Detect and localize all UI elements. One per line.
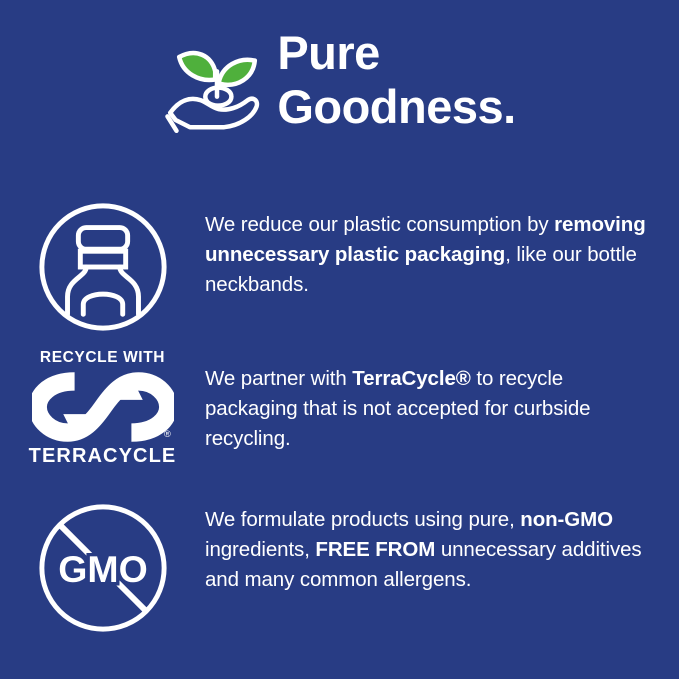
feature-text-cell: We reduce our plastic consumption by rem… <box>205 196 679 300</box>
text-part: ingredients, <box>205 538 315 561</box>
feature-text-cell: We partner with TerraCycle® to recycle p… <box>205 348 679 454</box>
feature-text-gmo: We formulate products using pure, non-GM… <box>205 505 661 595</box>
feature-row-plastic: We reduce our plastic consumption by rem… <box>0 196 679 341</box>
hand-holding-sprout-icon <box>163 30 271 138</box>
feature-text-plastic: We reduce our plastic consumption by rem… <box>205 210 661 300</box>
text-part-bold: FREE FROM <box>315 538 435 561</box>
text-part-bold: TerraCycle® <box>352 367 470 390</box>
feature-icon-cell <box>0 196 205 341</box>
text-part: We reduce our plastic consumption by <box>205 213 554 236</box>
no-gmo-circle-icon: GMO <box>34 499 172 642</box>
feature-row-gmo: GMO We formulate products using pure, no… <box>0 497 679 642</box>
bottle-neckband-circle-icon <box>34 198 172 341</box>
feature-text-terracycle: We partner with TerraCycle® to recycle p… <box>205 364 661 454</box>
text-part-bold: non-GMO <box>520 508 613 531</box>
text-part: We formulate products using pure, <box>205 508 520 531</box>
terracycle-top-label: RECYCLE WITH <box>40 350 165 366</box>
feature-icon-cell: RECYCLE WITH ® TERRACYCLE <box>0 348 205 466</box>
feature-row-terracycle: RECYCLE WITH ® TERRACYCLE <box>0 348 679 466</box>
header: Pure Goodness. <box>0 24 679 154</box>
pure-goodness-infographic: Pure Goodness. We reduce our <box>0 0 679 679</box>
feature-icon-cell: GMO <box>0 497 205 642</box>
registered-mark: ® <box>164 428 171 438</box>
page-title: Pure Goodness. <box>277 24 515 133</box>
infinity-arrows-icon: ® <box>32 371 174 443</box>
feature-text-cell: We formulate products using pure, non-GM… <box>205 497 679 595</box>
terracycle-bottom-label: TERRACYCLE <box>29 446 177 466</box>
terracycle-logo-icon: RECYCLE WITH ® TERRACYCLE <box>30 350 176 466</box>
gmo-icon-label: GMO <box>58 548 147 590</box>
text-part: We partner with <box>205 367 352 390</box>
